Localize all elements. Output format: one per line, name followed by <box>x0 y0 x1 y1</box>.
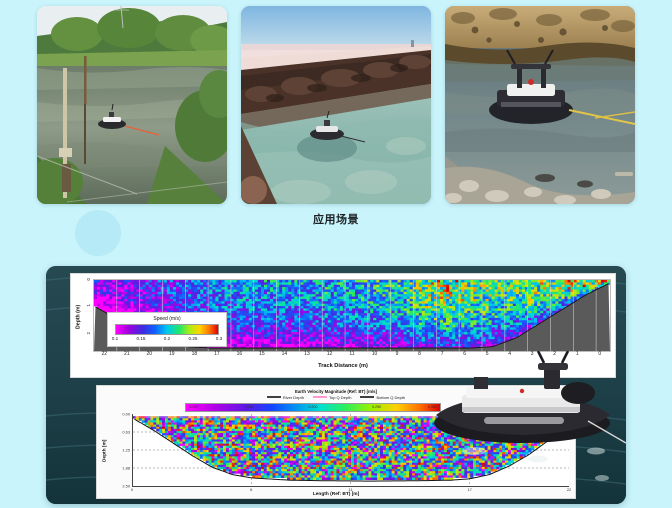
photo-gallery <box>0 6 672 204</box>
usv-boat-overlay <box>418 351 626 469</box>
chart-b-legend-item: Top Q Depth <box>313 395 351 400</box>
chart-b-legend-label: River Depth <box>283 395 304 400</box>
chart-b-legend-label: Top Q Depth <box>329 395 351 400</box>
chart-a-xtick: 15 <box>259 351 265 357</box>
photo-river-bank-survey[interactable] <box>37 6 227 204</box>
chart-b-colorbar-ticks: 0.1000.1500.2000.2500.300 <box>186 405 440 412</box>
chart-a-colorbar-tick: 0.2 <box>164 336 170 341</box>
chart-a-ytick-2: 2 <box>86 332 91 334</box>
chart-a-xtick: 9 <box>396 351 399 357</box>
chart-a-xtick: 14 <box>282 351 288 357</box>
chart-a-xtick: 21 <box>124 351 130 357</box>
chart-b-colorbar: 0.1000.1500.2000.2500.300 <box>185 403 441 412</box>
chart-a-colorbar: Speed (m/s) 0.10.150.20.250.3 <box>107 312 227 347</box>
chart-a-colorbar-tick: 0.25 <box>189 336 198 341</box>
chart-b-colorbar-tick: 0.250 <box>372 405 381 409</box>
chart-a-xtick: 19 <box>169 351 175 357</box>
chart-b-yticks: 0.000.631.251.882.50 <box>111 414 131 486</box>
chart-a-colorbar-tick: 0.3 <box>216 336 222 341</box>
chart-a-colorbar-gradient <box>115 324 219 335</box>
rocky-shore-closeup-image <box>445 6 635 204</box>
chart-b-xlabel: Length (Ref: BT) [m] <box>97 492 575 497</box>
chart-a-ytick-0: 0 <box>86 278 91 280</box>
chart-b-ylabel: Depth [m] <box>100 428 110 474</box>
measurement-results-panel: Depth (m) 0 1 2 <box>46 266 626 504</box>
chart-a-ytick-1: 1 <box>86 304 91 306</box>
chart-b-ytick: 2.50 <box>122 484 130 489</box>
chart-a-ylabel: Depth (m) <box>73 288 84 346</box>
chart-a-colorbar-ticks: 0.10.150.20.250.3 <box>115 336 219 345</box>
chart-b-colorbar-tick: 0.100 <box>189 405 198 409</box>
photo-rocky-shore-closeup[interactable] <box>445 6 635 204</box>
chart-a-colorbar-label: Speed (m/s) <box>108 316 226 322</box>
chart-a-xtick: 22 <box>101 351 107 357</box>
chart-b-legend-swatch <box>267 396 281 397</box>
chart-b-colorbar-tick: 0.150 <box>245 405 254 409</box>
chart-b-legend-item: Bottom Q Depth <box>360 395 405 400</box>
chart-b-ytick: 1.88 <box>122 466 130 471</box>
chart-a-xtick: 12 <box>327 351 333 357</box>
river-bank-survey-image <box>37 6 227 204</box>
gallery-caption: 应用场景 <box>0 211 672 227</box>
chart-b-colorbar-tick: 0.200 <box>309 405 318 409</box>
chart-b-legend-swatch <box>360 396 374 397</box>
photo-salt-lake-shallow[interactable] <box>241 6 431 204</box>
chart-a-xtick: 17 <box>214 351 220 357</box>
chart-a-xtick: 16 <box>237 351 243 357</box>
chart-a-xtick: 18 <box>192 351 198 357</box>
chart-b-legend-item: River Depth <box>267 395 304 400</box>
usv-boat-image <box>418 351 626 469</box>
chart-b-legend-label: Bottom Q Depth <box>376 395 405 400</box>
chart-a-xtick: 13 <box>304 351 310 357</box>
chart-b-ytick: 0.00 <box>122 412 130 417</box>
chart-a-colorbar-tick: 0.15 <box>137 336 146 341</box>
chart-b-ytick: 1.25 <box>122 448 130 453</box>
chart-b-ytick: 0.63 <box>122 430 130 435</box>
chart-a-xtick: 20 <box>147 351 153 357</box>
chart-a-xtick: 11 <box>349 351 354 357</box>
chart-a-xtick: 10 <box>372 351 378 357</box>
chart-a-colorbar-tick: 0.1 <box>112 336 118 341</box>
chart-b-legend-swatch <box>313 396 327 397</box>
salt-lake-shallow-image <box>241 6 431 204</box>
